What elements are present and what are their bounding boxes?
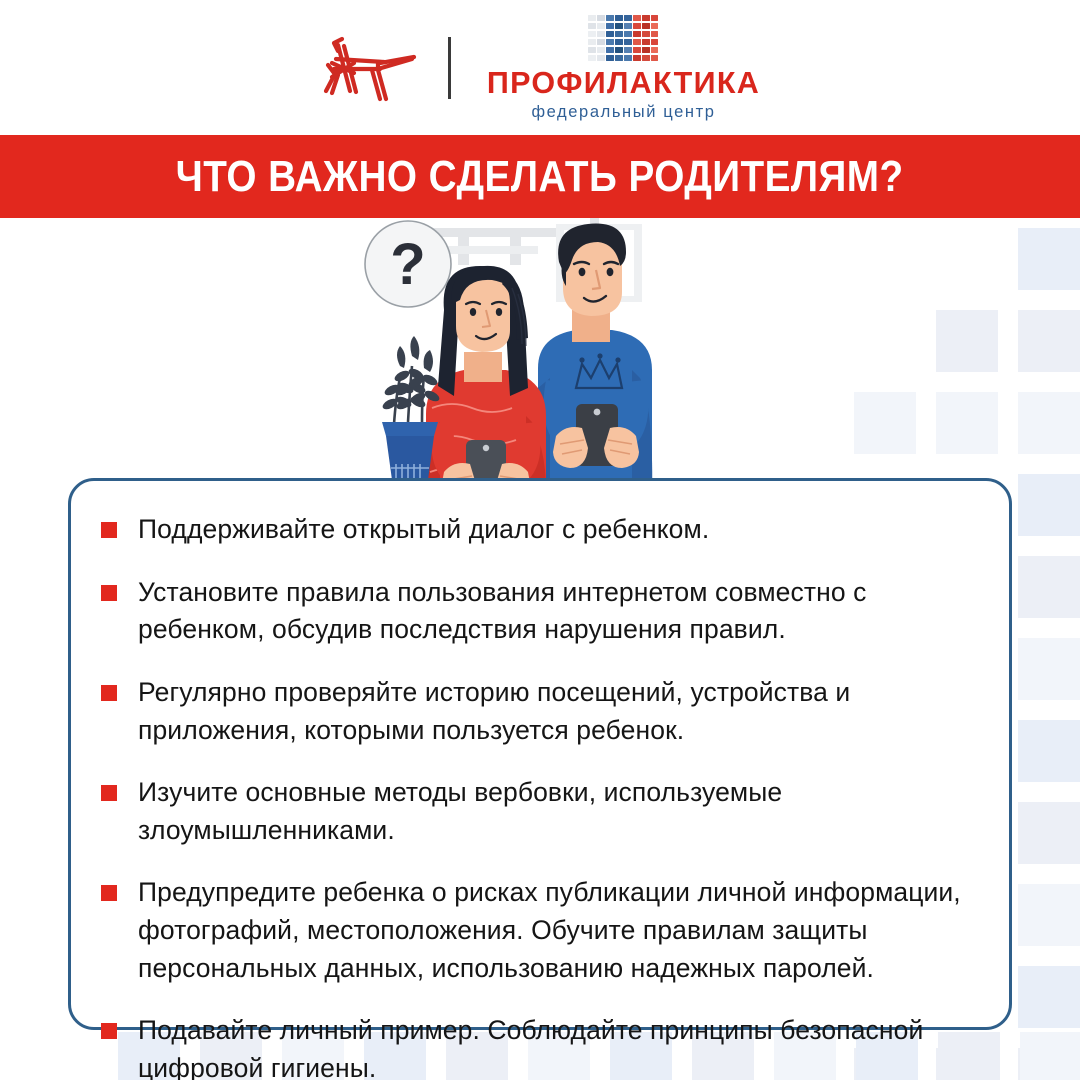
grid-cell bbox=[615, 31, 622, 37]
grid-cell bbox=[606, 31, 613, 37]
grid-cell bbox=[633, 39, 640, 45]
grid-cell bbox=[624, 15, 631, 21]
parents-with-smartphones-illustration: ? bbox=[360, 218, 700, 503]
thought-bubble-question-mark: ? bbox=[390, 232, 425, 297]
brand-subtitle: федеральный центр bbox=[531, 104, 715, 121]
brand-block: ПРОФИЛАКТИКА федеральный центр bbox=[487, 15, 760, 120]
pattern-square bbox=[1018, 884, 1080, 946]
grid-cell bbox=[597, 31, 604, 37]
grid-cell bbox=[597, 55, 604, 61]
grid-cell bbox=[615, 39, 622, 45]
grid-cell bbox=[651, 31, 658, 37]
grid-cell bbox=[606, 47, 613, 53]
grid-cell bbox=[651, 15, 658, 21]
grid-cell bbox=[615, 55, 622, 61]
grid-cell bbox=[633, 23, 640, 29]
list-item: Регулярно проверяйте историю посещений, … bbox=[101, 674, 965, 749]
grid-cell bbox=[588, 39, 595, 45]
grid-cell bbox=[633, 31, 640, 37]
title-banner: ЧТО ВАЖНО СДЕЛАТЬ РОДИТЕЛЯМ? bbox=[0, 135, 1080, 218]
grid-cell bbox=[588, 23, 595, 29]
vertical-divider bbox=[448, 37, 451, 99]
grid-cell bbox=[606, 15, 613, 21]
grid-cell bbox=[642, 15, 649, 21]
list-item: Предупредите ребенка о рисках публикации… bbox=[101, 874, 965, 987]
bullet-square-icon bbox=[101, 1023, 117, 1039]
grid-cell bbox=[597, 39, 604, 45]
grid-cell bbox=[633, 47, 640, 53]
grid-cell bbox=[651, 23, 658, 29]
infographic-poster: ПРОФИЛАКТИКА федеральный центр ЧТО ВАЖНО… bbox=[0, 0, 1080, 1080]
list-item: Подавайте личный пример. Соблюдайте прин… bbox=[101, 1012, 965, 1080]
bullet-square-icon bbox=[101, 785, 117, 801]
grid-cell bbox=[588, 31, 595, 37]
grid-cell bbox=[615, 47, 622, 53]
grid-cell bbox=[606, 23, 613, 29]
pattern-square bbox=[1018, 228, 1080, 290]
pattern-square bbox=[1018, 966, 1080, 1028]
grid-cell bbox=[624, 23, 631, 29]
list-item: Установите правила пользования интернето… bbox=[101, 574, 965, 649]
grid-cell bbox=[588, 47, 595, 53]
pattern-square bbox=[936, 392, 998, 454]
grid-cell bbox=[588, 55, 595, 61]
grid-cell bbox=[642, 23, 649, 29]
grid-cell bbox=[606, 39, 613, 45]
pattern-square bbox=[1018, 802, 1080, 864]
pattern-square bbox=[936, 310, 998, 372]
gradient-square-grid-icon bbox=[588, 15, 658, 61]
grid-cell bbox=[651, 47, 658, 53]
grid-cell bbox=[615, 23, 622, 29]
grid-cell bbox=[624, 31, 631, 37]
bullet-square-icon bbox=[101, 585, 117, 601]
grid-cell bbox=[624, 39, 631, 45]
pattern-square bbox=[854, 392, 916, 454]
grid-cell bbox=[642, 47, 649, 53]
grid-cell bbox=[642, 39, 649, 45]
brand-name: ПРОФИЛАКТИКА bbox=[487, 68, 760, 99]
pattern-square bbox=[1018, 638, 1080, 700]
grid-cell bbox=[597, 47, 604, 53]
list-item-text: Подавайте личный пример. Соблюдайте прин… bbox=[138, 1012, 965, 1080]
grid-cell bbox=[588, 15, 595, 21]
bullet-square-icon bbox=[101, 885, 117, 901]
pattern-square bbox=[1018, 556, 1080, 618]
list-item-text: Предупредите ребенка о рисках публикации… bbox=[138, 874, 965, 987]
grid-cell bbox=[624, 47, 631, 53]
list-item-text: Установите правила пользования интернето… bbox=[138, 574, 965, 649]
grid-cell bbox=[597, 15, 604, 21]
bullet-square-icon bbox=[101, 685, 117, 701]
list-item-text: Поддерживайте открытый диалог с ребенком… bbox=[138, 511, 709, 549]
grid-cell bbox=[642, 55, 649, 61]
grid-cell bbox=[651, 55, 658, 61]
pattern-square bbox=[1018, 310, 1080, 372]
grid-cell bbox=[615, 15, 622, 21]
recommendations-card: Поддерживайте открытый диалог с ребенком… bbox=[68, 478, 1012, 1030]
list-item: Поддерживайте открытый диалог с ребенком… bbox=[101, 511, 965, 549]
pattern-square bbox=[1018, 474, 1080, 536]
chair-line-art-icon bbox=[320, 29, 424, 107]
pattern-square bbox=[1018, 1048, 1080, 1080]
pattern-square bbox=[1018, 392, 1080, 454]
grid-cell bbox=[651, 39, 658, 45]
grid-cell bbox=[642, 31, 649, 37]
grid-cell bbox=[633, 15, 640, 21]
grid-cell bbox=[597, 23, 604, 29]
list-item-text: Изучите основные методы вербовки, исполь… bbox=[138, 774, 965, 849]
woman-red-shirt-figure bbox=[420, 266, 547, 503]
pattern-square bbox=[1020, 1032, 1080, 1080]
pattern-square bbox=[1018, 720, 1080, 782]
grid-cell bbox=[624, 55, 631, 61]
page-title: ЧТО ВАЖНО СДЕЛАТЬ РОДИТЕЛЯМ? bbox=[176, 152, 904, 202]
recommendations-list: Поддерживайте открытый диалог с ребенком… bbox=[101, 511, 965, 1080]
list-item: Изучите основные методы вербовки, исполь… bbox=[101, 774, 965, 849]
grid-cell bbox=[606, 55, 613, 61]
header: ПРОФИЛАКТИКА федеральный центр bbox=[0, 0, 1080, 135]
bullet-square-icon bbox=[101, 522, 117, 538]
grid-cell bbox=[633, 55, 640, 61]
list-item-text: Регулярно проверяйте историю посещений, … bbox=[138, 674, 965, 749]
